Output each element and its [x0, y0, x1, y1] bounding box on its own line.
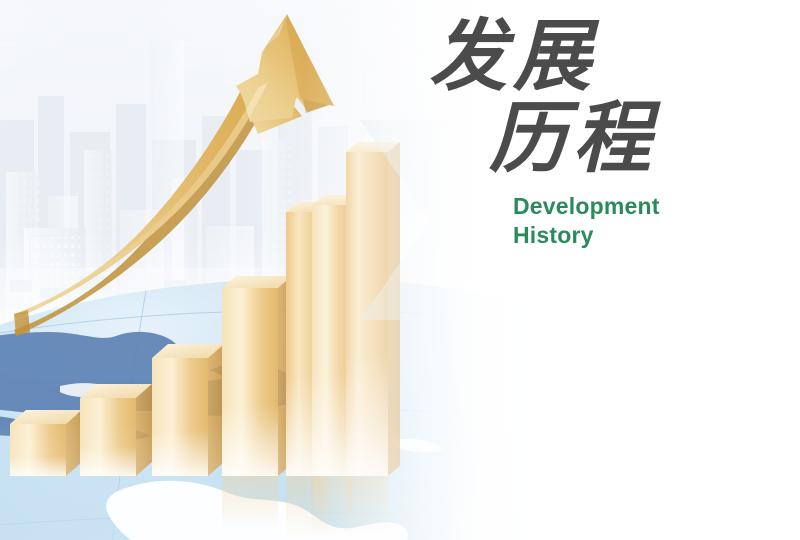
title-chinese-line-2: 历程 [489, 100, 755, 178]
title-chinese-line-1: 发展 [429, 18, 755, 96]
title-english-block: Development History [425, 192, 755, 251]
title-english-line-1: Development [513, 192, 755, 221]
title-block: 发展 历程 Development History [425, 18, 755, 251]
title-english-line-2: History [513, 221, 755, 250]
development-history-banner: 发展 历程 Development History [0, 0, 800, 540]
